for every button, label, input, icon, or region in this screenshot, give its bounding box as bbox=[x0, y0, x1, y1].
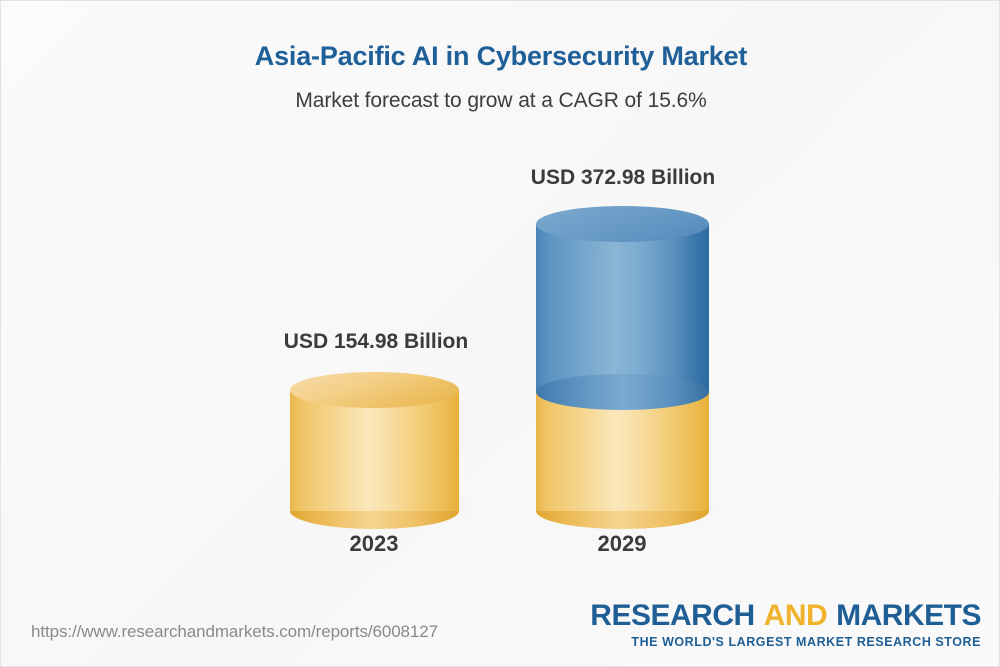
logo-wordmark: RESEARCHANDMARKETS bbox=[590, 601, 981, 631]
bar-2029-top-cap bbox=[536, 206, 709, 242]
infographic-canvas: Asia-Pacific AI in Cybersecurity Market … bbox=[0, 0, 1000, 667]
logo-word-markets: MARKETS bbox=[836, 599, 981, 632]
source-url[interactable]: https://www.researchandmarkets.com/repor… bbox=[31, 622, 438, 642]
research-and-markets-logo[interactable]: RESEARCHANDMARKETS THE WORLD'S LARGEST M… bbox=[590, 601, 981, 649]
bar-2029-segment-divider bbox=[536, 374, 709, 410]
value-label-2029: USD 372.98 Billion bbox=[443, 166, 803, 190]
category-label-2029: 2029 bbox=[502, 531, 742, 557]
bar-2023-top-cap bbox=[290, 372, 459, 408]
bar-2029[interactable] bbox=[536, 206, 709, 529]
logo-word-and: AND bbox=[764, 599, 828, 632]
bar-2023-body bbox=[290, 390, 459, 511]
category-label-2023: 2023 bbox=[254, 531, 494, 557]
bar-2029-segment-growth bbox=[536, 224, 709, 392]
bar-2023-segment-base bbox=[290, 390, 459, 511]
logo-word-research: RESEARCH bbox=[590, 599, 754, 632]
bar-2023[interactable] bbox=[290, 372, 459, 529]
chart-plot-area: USD 154.98 Billion 2023 USD 372.98 Billi… bbox=[1, 1, 1000, 667]
value-label-2023: USD 154.98 Billion bbox=[196, 330, 556, 354]
bar-2029-body-growth bbox=[536, 224, 709, 392]
logo-tagline: THE WORLD'S LARGEST MARKET RESEARCH STOR… bbox=[590, 636, 981, 649]
